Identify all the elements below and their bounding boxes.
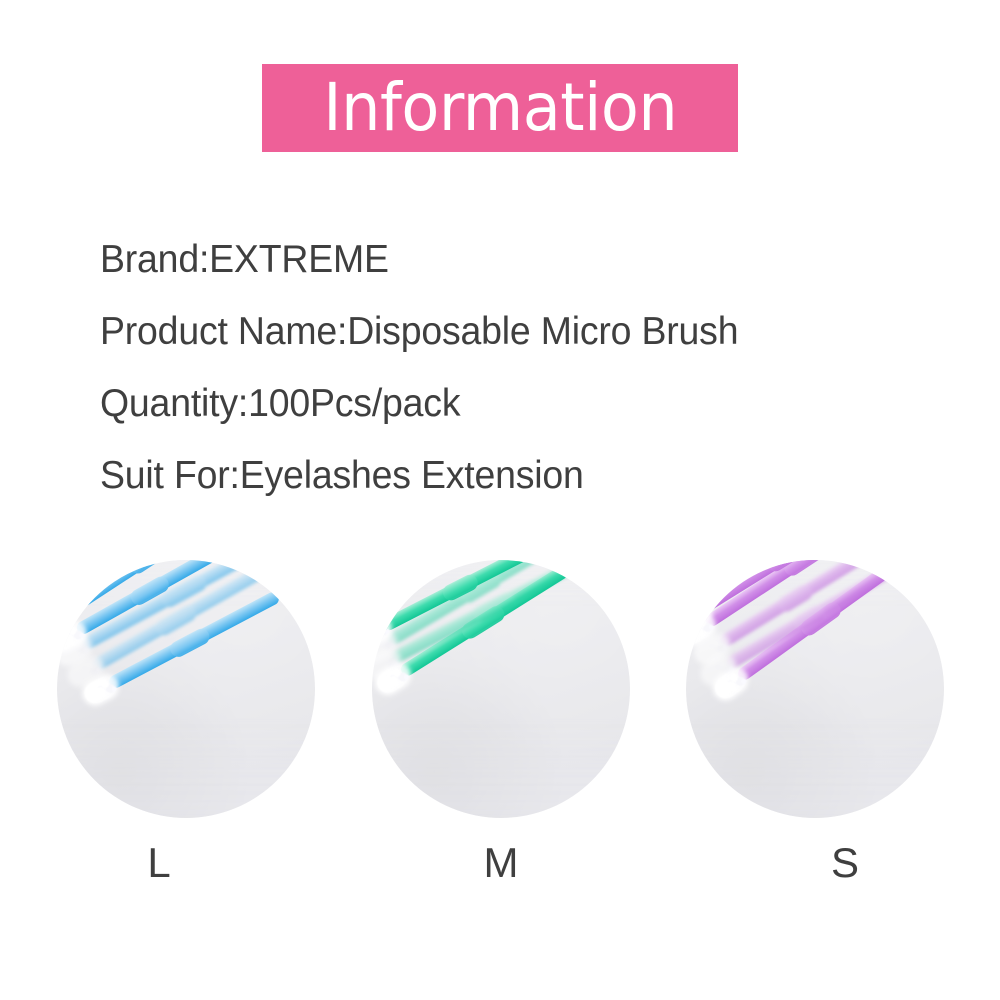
brush-cluster-purple	[686, 560, 944, 818]
brush-grip-bulge	[167, 625, 212, 659]
product-photo-green-brushes	[372, 560, 630, 818]
brush-cluster-blue	[57, 560, 315, 818]
size-label-m: M	[372, 842, 630, 884]
information-header-banner: Information	[262, 64, 738, 152]
spec-line-suit-for: Suit For:Eyelashes Extension	[100, 440, 887, 512]
size-label-l: L	[30, 842, 288, 884]
brush-cluster-green	[372, 560, 630, 818]
swatch-size-s	[686, 560, 944, 818]
size-label-s: S	[716, 842, 974, 884]
spec-line-quantity: Quantity:100Pcs/pack	[100, 368, 887, 440]
product-photo-blue-brushes	[57, 560, 315, 818]
product-spec-list: Brand:EXTREME Product Name:Disposable Mi…	[100, 224, 920, 512]
spec-line-product-name: Product Name:Disposable Micro Brush	[100, 296, 887, 368]
page-title: Information	[323, 75, 677, 141]
swatch-size-m	[372, 560, 630, 818]
product-photo-purple-brushes	[686, 560, 944, 818]
spec-line-brand: Brand:EXTREME	[100, 224, 887, 296]
micro-brush-stick	[702, 560, 920, 683]
swatch-size-l	[57, 560, 315, 818]
size-swatch-row: L M S	[0, 560, 1000, 890]
